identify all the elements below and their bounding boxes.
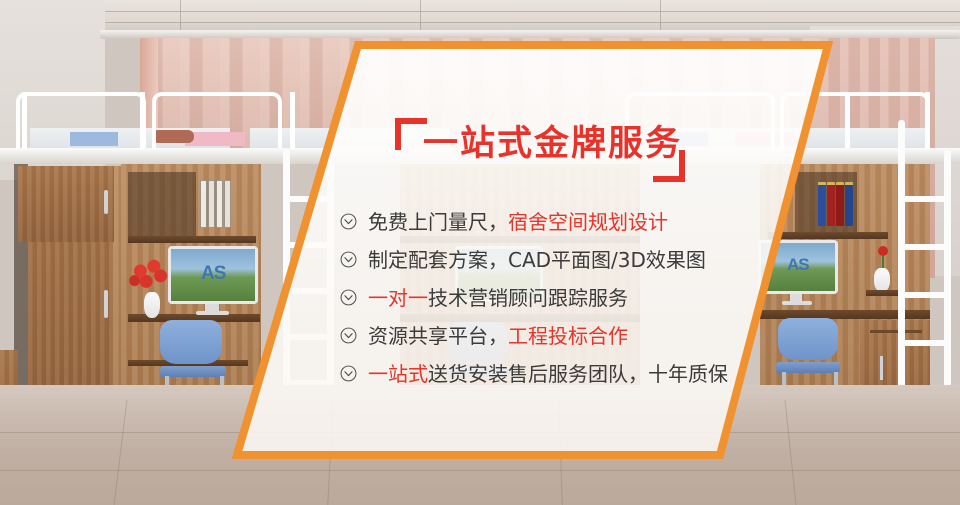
panel-shape bbox=[0, 0, 960, 505]
panel-outline bbox=[237, 45, 828, 455]
banner-stage: AS AS bbox=[0, 0, 960, 505]
highlight-panel bbox=[0, 0, 960, 505]
